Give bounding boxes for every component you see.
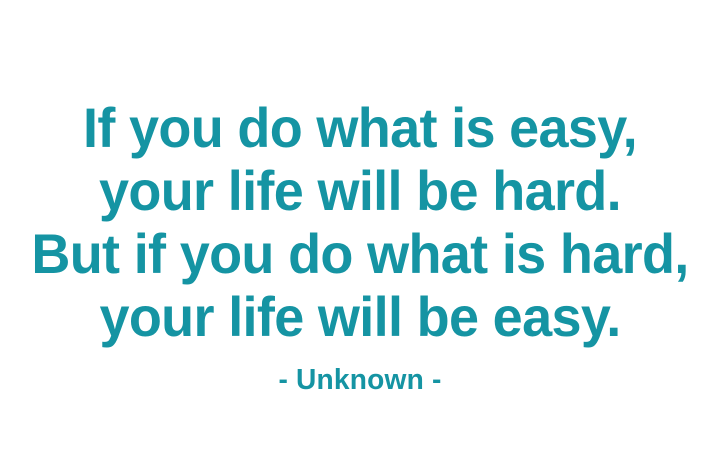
quote-line-4: your life will be easy. xyxy=(13,285,708,348)
quote-line-1: If you do what is easy, xyxy=(13,96,708,159)
quote-attribution: - Unknown - xyxy=(11,363,709,397)
quote-line-3: But if you do what is hard, xyxy=(13,222,708,285)
quote-text-block: If you do what is easy, your life will b… xyxy=(0,96,720,348)
quote-card: If you do what is easy, your life will b… xyxy=(0,0,720,450)
quote-line-2: your life will be hard. xyxy=(13,159,708,222)
